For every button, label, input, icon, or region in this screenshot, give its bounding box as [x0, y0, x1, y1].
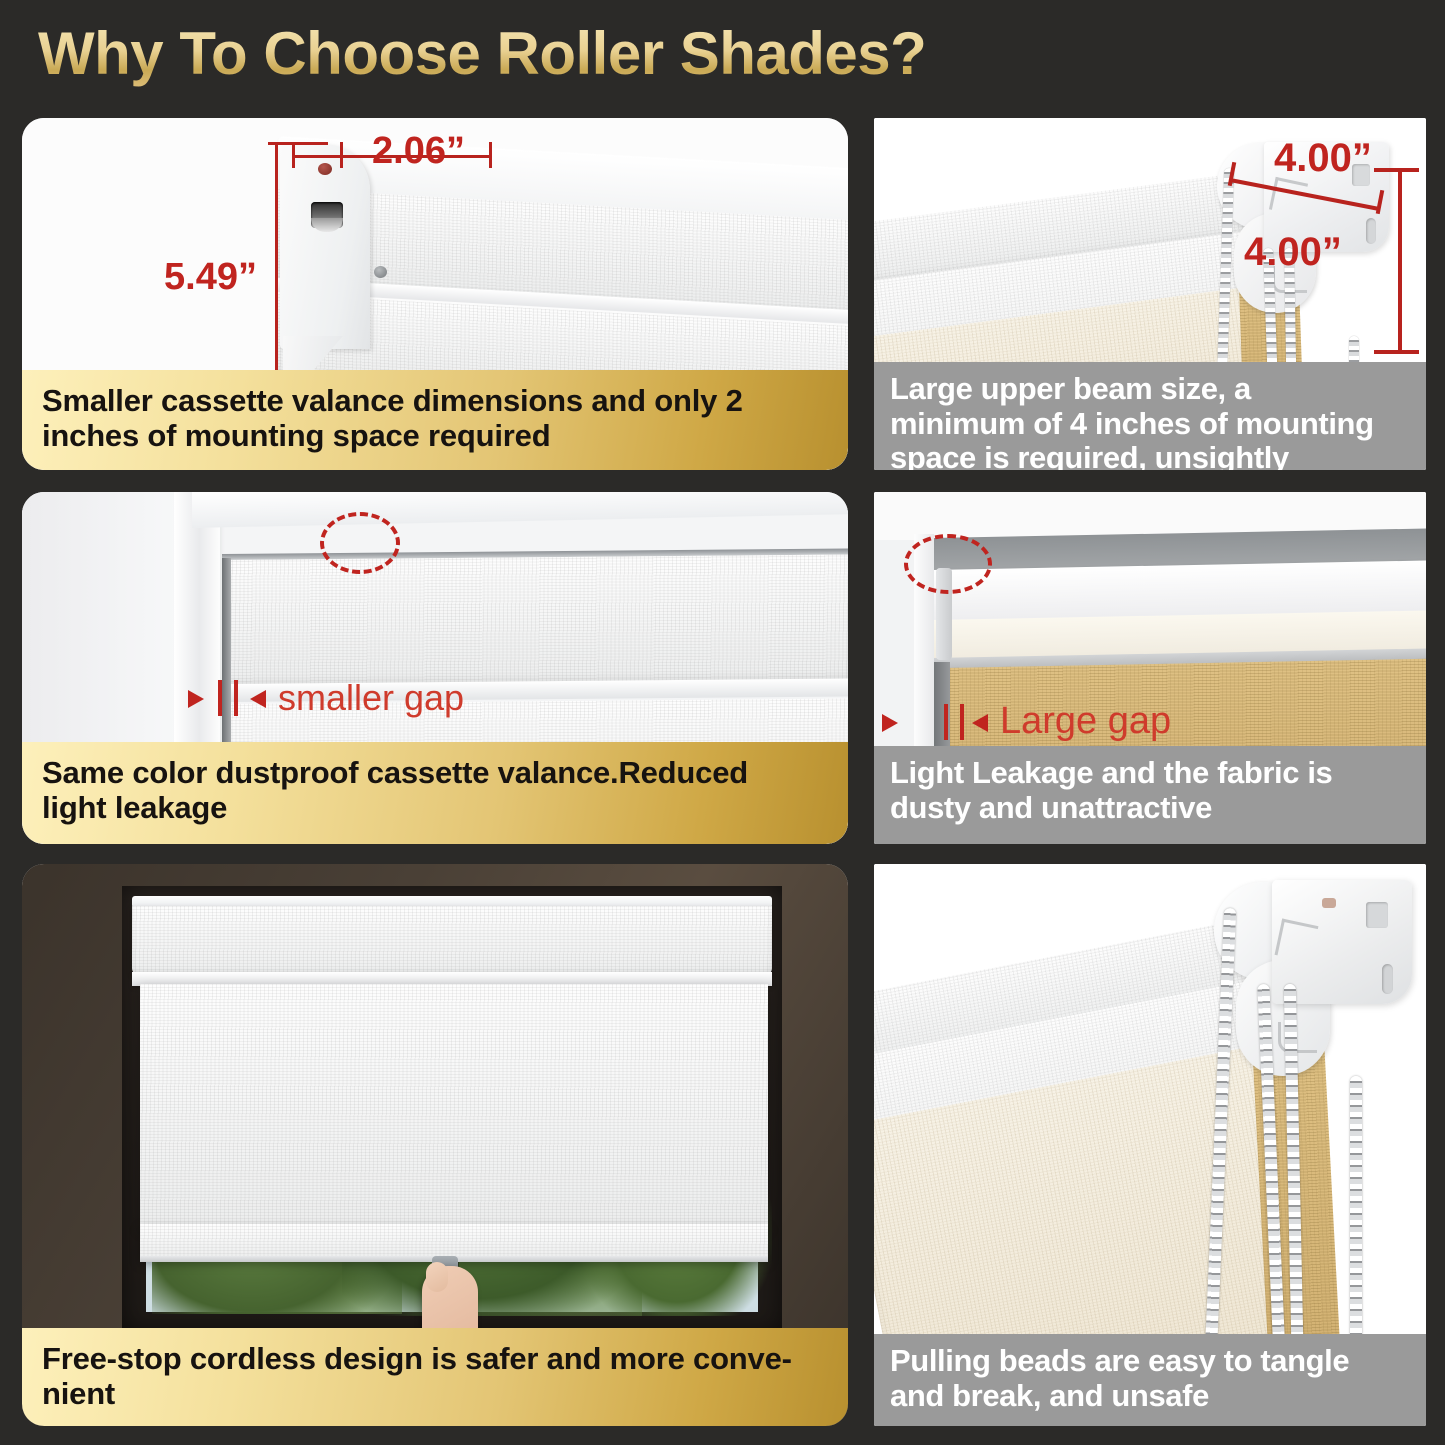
- gap-arrow-right: [972, 714, 988, 732]
- caption-large-upper-beam: Large upper beam size, a minimum of 4 in…: [874, 362, 1426, 470]
- caption-dustproof-cassette-valance: Same color dustproof cassette valance.Re…: [22, 742, 848, 844]
- caption-free-stop-cordless: Free-stop cordless design is safer and m…: [22, 1328, 848, 1426]
- caption-line: Pulling beads are easy to tangle: [890, 1344, 1412, 1379]
- caption-line: Large upper beam size, a: [890, 372, 1412, 407]
- caption-pulling-beads: Pulling beads are easy to tangle and bre…: [874, 1334, 1426, 1426]
- dimension-label-width: 2.06”: [372, 130, 465, 173]
- caption-line: Smaller cassette valance dimensions and …: [42, 384, 830, 419]
- panel-light-leakage: Large gap Light Leakage and the fabric i…: [874, 492, 1426, 844]
- gap-label-smaller: smaller gap: [278, 677, 464, 719]
- dimension-label-beam-width: 4.00”: [1274, 136, 1372, 181]
- gap-arrow-right: [250, 690, 266, 708]
- caption-cassette-valance-dimensions: Smaller cassette valance dimensions and …: [22, 370, 848, 470]
- caption-line: inches of mounting space required: [42, 419, 830, 454]
- gap-label-large: Large gap: [1000, 700, 1171, 743]
- comparison-grid: 2.06” 5.49” Smaller cassette valance dim…: [0, 0, 1445, 1445]
- highlight-ellipse-top-corner: [320, 512, 400, 574]
- caption-line: dusty and unattractive: [890, 791, 1412, 826]
- caption-line: space is required, unsightly: [890, 441, 1412, 470]
- dimension-label-beam-height: 4.00”: [1244, 230, 1342, 275]
- caption-line: nient: [42, 1377, 830, 1412]
- caption-light-leakage: Light Leakage and the fabric is dusty an…: [874, 746, 1426, 844]
- panel-large-upper-beam: 4.00” 4.00” Large upper beam size, a min…: [874, 118, 1426, 470]
- caption-line: Free-stop cordless design is safer and m…: [42, 1342, 830, 1377]
- gap-arrow-left: [882, 714, 898, 732]
- caption-line: minimum of 4 inches of mounting: [890, 407, 1412, 442]
- panel-cassette-valance-dimensions: 2.06” 5.49” Smaller cassette valance dim…: [22, 118, 848, 470]
- highlight-ellipse-bracket: [904, 534, 992, 594]
- panel-dustproof-cassette-valance: smaller gap Same color dustproof cassett…: [22, 492, 848, 844]
- panel-free-stop-cordless: Free-stop cordless design is safer and m…: [22, 864, 848, 1426]
- caption-line: Light Leakage and the fabric is: [890, 756, 1412, 791]
- dimension-label-height: 5.49”: [164, 256, 257, 299]
- caption-line: light leakage: [42, 791, 830, 826]
- gap-arrow-left: [188, 690, 204, 708]
- panel-pulling-beads: Pulling beads are easy to tangle and bre…: [874, 864, 1426, 1426]
- caption-line: and break, and unsafe: [890, 1379, 1412, 1414]
- caption-line: Same color dustproof cassette valance.Re…: [42, 756, 830, 791]
